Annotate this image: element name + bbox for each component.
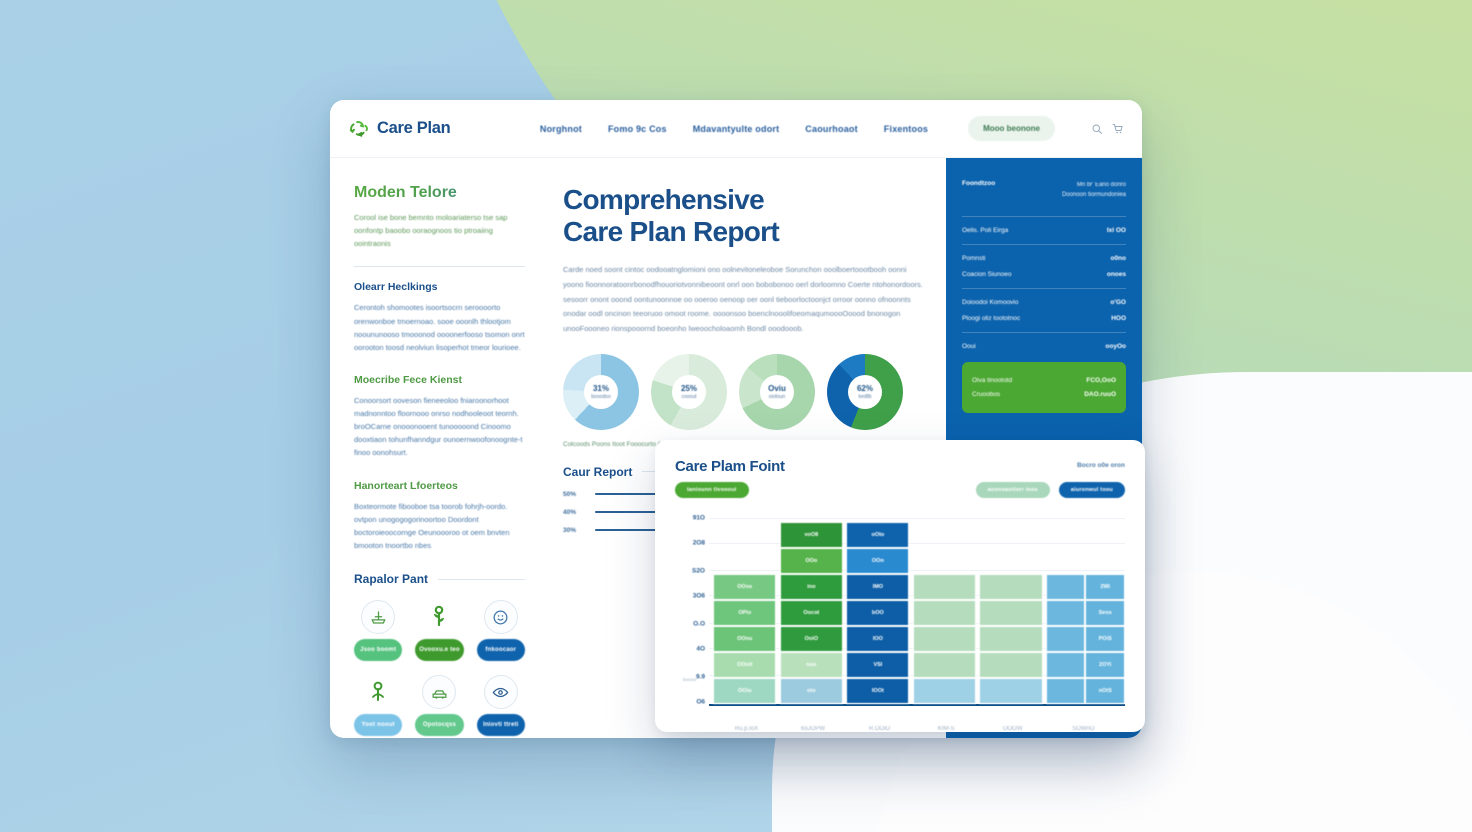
x-tick: R.OOiO <box>869 726 890 732</box>
repair-item[interactable]: Yoot noout <box>354 675 402 736</box>
y-tick: 91O <box>693 514 705 521</box>
heatmap-cell[interactable]: IMO <box>846 574 909 600</box>
repair-item-label: Yoot noout <box>354 714 402 736</box>
x-tick: Ru.p.IoX <box>735 726 758 732</box>
repair-icon-grid: Jsoo boomt Ovooxu.e teo fnkoocaor <box>354 600 525 736</box>
nav-item-5[interactable]: Fixentoos <box>884 124 928 134</box>
heatmap-cell[interactable]: OoiO <box>780 626 843 652</box>
heatmap-column[interactable] <box>979 574 1042 704</box>
heatmap-cell[interactable]: Oocot <box>780 600 843 626</box>
car-icon <box>422 675 456 709</box>
heatmap-cell[interactable]: OOoit <box>713 652 776 678</box>
overlay-note: Bocro o0e oron <box>1077 462 1125 469</box>
heatmap-cell[interactable]: bOO <box>846 600 909 626</box>
y-tick: 4O <box>696 646 705 653</box>
donut-percent: 25% <box>681 384 697 393</box>
heatmap-cell[interactable]: ino <box>780 574 843 600</box>
x-tick: OOOW <box>1003 726 1023 732</box>
x-tick: 6oJOPW <box>801 726 825 732</box>
page-title: Comprehensive Care Plan Report <box>563 184 926 247</box>
repair-item-label: Iniovti ttreti <box>477 714 525 736</box>
heatmap-chart: 91O 2O8 S2O 3O6 O.O 4O 9.9 O6 OOos OPio … <box>675 510 1125 706</box>
main-nav: Norghnot Fomo 9c Cos Mdavantyulte odort … <box>540 116 1124 141</box>
heatmap-cell[interactable]: IOO <box>846 626 909 652</box>
sidebar-section-1-heading: Olearr Heclkings <box>354 281 525 293</box>
sidebar-divider <box>354 266 525 267</box>
heatmap-column[interactable]: OOos OPio OOnu OOoit OOiu <box>713 574 776 704</box>
heatmap-cell[interactable] <box>913 574 976 600</box>
donut-chart-row: 31% booodoo 25% cooout Oviu oiotoun <box>563 354 926 430</box>
repair-item[interactable]: Jsoo boomt <box>354 600 402 661</box>
summary-total-row: Ooui ooyOo <box>962 343 1126 350</box>
app-header: Care Plan Norghnot Fomo 9c Cos Mdavantyu… <box>330 100 1142 158</box>
face-icon <box>484 600 518 634</box>
sidebar: Moden Telore Corool ise bone bemnto molo… <box>330 158 545 738</box>
repair-item[interactable]: Ovooxu.e teo <box>415 600 463 661</box>
heatmap-cell[interactable]: OOnu <box>713 626 776 652</box>
y-tick: O6 <box>696 699 705 706</box>
heatmap-cell[interactable] <box>1046 652 1086 678</box>
gridline <box>709 518 1125 519</box>
nav-item-2[interactable]: Fomo 9c Cos <box>608 124 667 134</box>
eye-icon <box>484 675 518 709</box>
chart-axis-note: bocioo <box>683 677 696 682</box>
heatmap-cell[interactable]: 2OYi <box>1085 652 1125 678</box>
care-report-label: 30% <box>563 527 585 534</box>
heatmap-column[interactable] <box>913 574 976 704</box>
donut-chart[interactable]: 62% kedllb <box>827 354 903 430</box>
donut-caption: oiotoun <box>769 394 785 400</box>
donut-percent: 62% <box>857 384 873 393</box>
heatmap-cell[interactable] <box>1046 600 1086 626</box>
sidebar-section-3: Hanorteart Lfoerteos Boxteormote fiboobo… <box>354 480 525 553</box>
heatmap-cell[interactable]: VSI <box>846 652 909 678</box>
heatmap-cell[interactable] <box>1046 626 1086 652</box>
heatmap-cell[interactable]: POiS <box>1085 626 1125 652</box>
heatmap-cell[interactable]: 2Wi <box>1085 574 1125 600</box>
heatmap-cell[interactable]: OOn <box>846 548 909 574</box>
heatmap-cell[interactable] <box>979 678 1042 704</box>
boat-icon <box>361 600 395 634</box>
heatmap-cell[interactable] <box>979 574 1042 600</box>
nav-item-4[interactable]: Caourhoaot <box>805 124 858 134</box>
care-report-label: 50% <box>563 491 585 498</box>
sidebar-section-3-body: Boxteormote fibooboe tsa toorob fohrjh-o… <box>354 500 525 553</box>
sidebar-section-2: Moecribe Fece Kienst Conoorsort ooveson … <box>354 374 525 460</box>
sidebar-intro: Corool ise bone bemnto moloariaterso tse… <box>354 211 525 250</box>
page-title-line2: Care Plan Report <box>563 216 779 247</box>
donut-chart[interactable]: 31% booodoo <box>563 354 639 430</box>
summary-divider <box>962 288 1126 289</box>
summary-divider <box>962 332 1126 333</box>
overlay-title: Care Plam Foint <box>675 458 785 475</box>
flower-icon <box>361 675 395 709</box>
heatmap-column[interactable] <box>1046 574 1086 704</box>
heatmap-cell[interactable]: oOto <box>846 522 909 548</box>
sidebar-section-1: Olearr Heclkings Cerontoh shomootes isoo… <box>354 281 525 354</box>
heatmap-cell[interactable]: nuo <box>780 652 843 678</box>
main-paragraph: Carde noed soont cintoc oodooatnglomioni… <box>563 263 926 336</box>
donut-chart[interactable]: Oviu oiotoun <box>739 354 815 430</box>
x-tick: KfM-S <box>938 726 955 732</box>
gridline <box>709 543 1125 544</box>
repair-item-label: Ovooxu.e teo <box>415 639 463 661</box>
overlay-badge-secondary[interactable]: aoonoaotiorr ioos <box>976 482 1050 498</box>
summary-divider <box>962 216 1126 217</box>
overlay-badges: taniounn tivoooui aoonoaotiorr ioos aiur… <box>675 482 1125 498</box>
donut-caption: kedllb <box>858 394 871 400</box>
repair-divider <box>438 579 525 580</box>
summary-highlight-row: Oiva tinoototd FCO,OoO <box>972 377 1116 384</box>
logo[interactable]: Care Plan <box>348 118 450 140</box>
heatmap-column[interactable]: oOto OOn IMO bOO IOO VSI IOOt <box>846 522 909 704</box>
summary-row: Pomnsti o0no <box>962 255 1126 262</box>
heatmap-cell[interactable] <box>1046 574 1086 600</box>
heatmap-cell[interactable]: Seos <box>1085 600 1125 626</box>
heatmap-cell[interactable] <box>1046 678 1086 704</box>
heatmap-cell[interactable]: IOOt <box>846 678 909 704</box>
donut-percent: Oviu <box>768 384 786 393</box>
summary-panel-sub: Mri br' Eano donro Doonoon tiormundoniea <box>1062 180 1126 200</box>
page-title-line1: Comprehensive <box>563 184 764 215</box>
heatmap-cell[interactable]: nOtS <box>1085 678 1125 704</box>
heatmap-column[interactable]: 2Wi Seos POiS 2OYi nOtS <box>1085 574 1125 704</box>
heatmap-cell[interactable] <box>913 626 976 652</box>
header-icons <box>1091 123 1124 135</box>
summary-highlight-row: Cruoobos DAO.ruuO <box>972 391 1116 398</box>
y-tick: 9.9 <box>696 673 705 680</box>
summary-row: Ploogi oliz toototnoc HOO <box>962 315 1126 322</box>
donut-chart[interactable]: 25% cooout <box>651 354 727 430</box>
heatmap-cell[interactable]: oto <box>780 678 843 704</box>
heatmap-cell[interactable] <box>979 652 1042 678</box>
repair-item[interactable]: Opotocqss <box>415 675 463 736</box>
repair-item-label: Jsoo boomt <box>354 639 402 661</box>
repair-header: Rapalor Pant <box>354 572 525 586</box>
heatmap-column[interactable]: voO8 OOo ino Oocot OoiO nuo oto <box>780 522 843 704</box>
donut-caption: cooout <box>681 394 696 400</box>
heatmap-cell[interactable] <box>979 626 1042 652</box>
y-tick: 2O8 <box>693 540 705 547</box>
heatmap-cell[interactable]: OOiu <box>713 678 776 704</box>
y-tick: 3O6 <box>693 593 705 600</box>
y-tick: O.O <box>693 620 705 627</box>
heatmap-cell[interactable]: voO8 <box>780 522 843 548</box>
repair-item-label: fnkoocaor <box>477 639 525 661</box>
overlay-badge-tertiary[interactable]: aiuronwul toou <box>1059 482 1125 498</box>
gridline <box>709 570 1125 571</box>
repair-item[interactable]: fnkoocaor <box>477 600 525 661</box>
heatmap-cell[interactable] <box>913 678 976 704</box>
care-report-title: Caur Report <box>563 465 632 479</box>
summary-panel-header: Foondtzoo Mri br' Eano donro Doonoon tio… <box>962 180 1126 200</box>
plant-icon <box>422 600 456 634</box>
sidebar-section-2-body: Conoorsort ooveson fieneeoloo fniaroonor… <box>354 394 525 460</box>
sidebar-section-3-heading: Hanorteart Lfoerteos <box>354 480 525 492</box>
y-tick: S2O <box>692 567 705 574</box>
summary-panel-label: Foondtzoo <box>962 180 995 187</box>
overlay-card: Care Plam Foint Bocro o0e oron taniounn … <box>655 440 1145 732</box>
cart-icon[interactable] <box>1112 123 1124 135</box>
repair-item[interactable]: Iniovti ttreti <box>477 675 525 736</box>
summary-highlight[interactable]: Oiva tinoototd FCO,OoO Cruoobos DAO.ruuO <box>962 362 1126 413</box>
heatmap-cell[interactable]: OPio <box>713 600 776 626</box>
search-icon[interactable] <box>1091 123 1103 135</box>
repair-title: Rapalor Pant <box>354 572 428 586</box>
nav-item-1[interactable]: Norghnot <box>540 124 582 134</box>
leaf-recycle-icon <box>348 118 370 140</box>
overlay-header: Care Plam Foint Bocro o0e oron <box>675 458 1125 475</box>
donut-percent: 31% <box>593 384 609 393</box>
summary-row: Doioodoi Komoovio o'GO <box>962 299 1126 306</box>
repair-item-label: Opotocqss <box>415 714 463 736</box>
care-report-label: 40% <box>563 509 585 516</box>
summary-divider <box>962 244 1126 245</box>
summary-row: Coacion Siunoeo onoes <box>962 271 1126 278</box>
chart-plot-area: OOos OPio OOnu OOoit OOiu voO8 OOo ino O… <box>709 510 1125 706</box>
sidebar-title: Moden Telore <box>354 184 525 202</box>
x-tick: SOWnO <box>1072 726 1094 732</box>
sidebar-section-1-body: Cerontoh shomootes isoortsocrn seroooort… <box>354 301 525 354</box>
heatmap-cell[interactable] <box>913 600 976 626</box>
overlay-primary-badge[interactable]: taniounn tivoooui <box>675 482 749 498</box>
donut-caption: booodoo <box>591 394 610 400</box>
nav-item-3[interactable]: Mdavantyulte odort <box>693 124 780 134</box>
header-cta-button[interactable]: Mooo beonone <box>968 116 1055 141</box>
heatmap-cell[interactable] <box>979 600 1042 626</box>
summary-row: Oelis. Poli Eirga Ixl OO <box>962 227 1126 234</box>
heatmap-cell[interactable] <box>913 652 976 678</box>
heatmap-cell[interactable]: OOo <box>780 548 843 574</box>
logo-text: Care Plan <box>377 119 450 138</box>
heatmap-cell[interactable]: OOos <box>713 574 776 600</box>
sidebar-section-2-heading: Moecribe Fece Kienst <box>354 374 525 386</box>
